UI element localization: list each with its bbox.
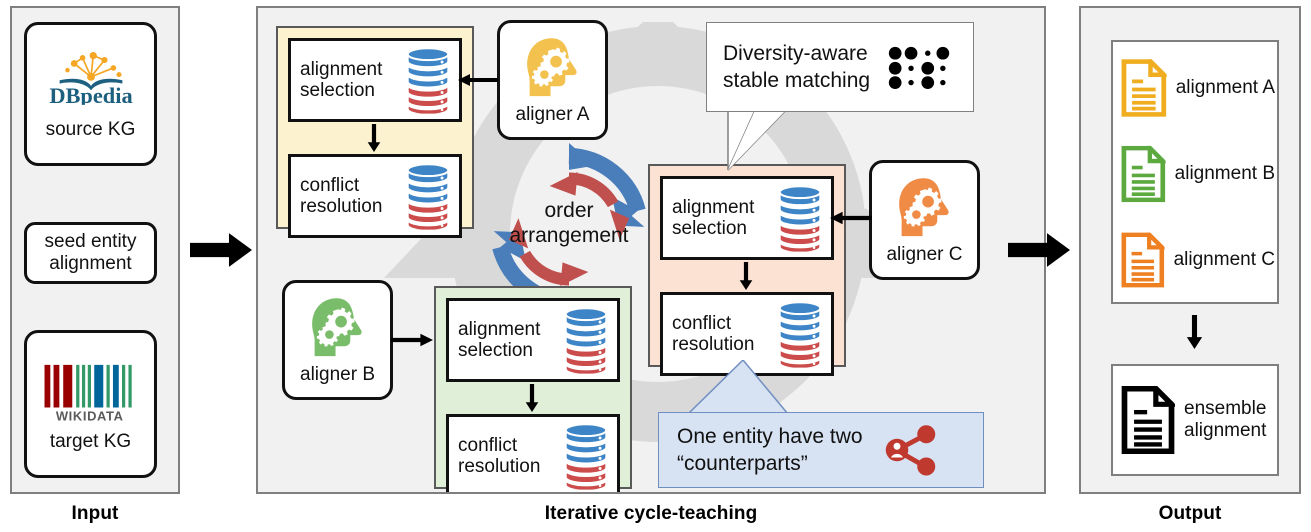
aligner-b-step2-text: conflict resolution — [458, 435, 540, 478]
dot-matrix-icon — [888, 46, 950, 89]
aligner-a-step1-text: alignment selection — [300, 59, 382, 102]
document-icon — [1121, 228, 1165, 292]
document-icon — [1121, 56, 1167, 120]
alignment-c-row[interactable]: alignment C — [1115, 220, 1275, 300]
source-kg-label: source KG — [46, 119, 136, 141]
diversity-matching-text: Diversity-aware stable matching — [723, 40, 870, 95]
aligner-b-label: aligner B — [300, 364, 375, 386]
document-icon — [1121, 142, 1166, 206]
seed-alignment-label-1: seed entity — [45, 231, 137, 253]
aligner-b-alignment-selection[interactable]: alignment selection — [446, 298, 620, 382]
aligner-b-card[interactable]: aligner B — [282, 280, 393, 400]
ensemble-alignment-row[interactable]: ensemble alignment — [1115, 370, 1277, 470]
aligner-a-alignment-selection[interactable]: alignment selection — [288, 38, 462, 122]
head-gears-icon — [307, 297, 369, 361]
share-network-icon — [885, 423, 939, 477]
aligner-c-step2-text: conflict resolution — [672, 313, 754, 356]
aligner-b-conflict-resolution[interactable]: conflict resolution — [446, 414, 620, 494]
aligner-b-to-step-arrow — [391, 332, 433, 348]
ensemble-label: ensemble alignment — [1184, 398, 1266, 442]
aligner-a-card[interactable]: aligner A — [497, 20, 608, 140]
aligner-a-step-arrow — [367, 124, 381, 152]
database-stack-icon — [561, 305, 611, 375]
source-kg-card[interactable]: source KG — [24, 22, 157, 166]
middle-panel: alignment selection conflict resolution … — [256, 6, 1046, 494]
aligner-b-step-arrow — [525, 384, 539, 412]
aligner-c-step-arrow — [739, 262, 753, 290]
database-stack-icon — [403, 161, 453, 231]
middle-to-output-arrow — [1008, 232, 1070, 268]
database-stack-icon — [775, 299, 825, 369]
alignment-c-label: alignment C — [1174, 249, 1275, 271]
diversity-matching-callout[interactable]: Diversity-aware stable matching — [706, 22, 974, 112]
input-caption: Input — [10, 503, 180, 525]
aligner-a-step2-text: conflict resolution — [300, 175, 382, 218]
counterparts-callout[interactable]: One entity have two “counterparts” — [658, 412, 984, 488]
database-stack-icon — [403, 45, 453, 115]
aligner-c-label: aligner C — [886, 244, 962, 266]
figure-canvas: DBpedia WIKIDATA — [0, 0, 1311, 532]
alignments-to-ensemble-arrow — [1186, 306, 1203, 358]
seed-alignment-label-2: alignment — [49, 253, 131, 275]
head-gears-icon — [894, 177, 956, 241]
middle-caption: Iterative cycle-teaching — [256, 503, 1046, 525]
alignment-a-row[interactable]: alignment A — [1115, 48, 1275, 128]
seed-alignment-card[interactable]: seed entity alignment — [24, 222, 157, 284]
alignment-a-label: alignment A — [1176, 77, 1275, 99]
aligner-a-label: aligner A — [516, 104, 590, 126]
order-arrangement-label: order arrangement — [473, 198, 665, 248]
aligner-a-conflict-resolution[interactable]: conflict resolution — [288, 154, 462, 238]
alignment-b-label: alignment B — [1175, 163, 1275, 185]
document-icon — [1121, 385, 1175, 455]
matching-callout-tail — [688, 108, 888, 228]
head-gears-icon — [522, 37, 584, 101]
aligner-a-to-step-arrow — [458, 72, 498, 88]
database-stack-icon — [561, 421, 611, 491]
dbpedia-logo-icon — [35, 51, 147, 105]
alignment-b-row[interactable]: alignment B — [1115, 134, 1275, 214]
input-to-middle-arrow — [190, 232, 252, 268]
aligner-b-step1-text: alignment selection — [458, 319, 540, 362]
counterparts-text: One entity have two “counterparts” — [677, 423, 863, 478]
wikidata-logo-icon — [39, 361, 143, 423]
output-caption: Output — [1079, 503, 1301, 525]
target-kg-card[interactable]: target KG — [24, 330, 157, 478]
target-kg-label: target KG — [50, 431, 131, 453]
